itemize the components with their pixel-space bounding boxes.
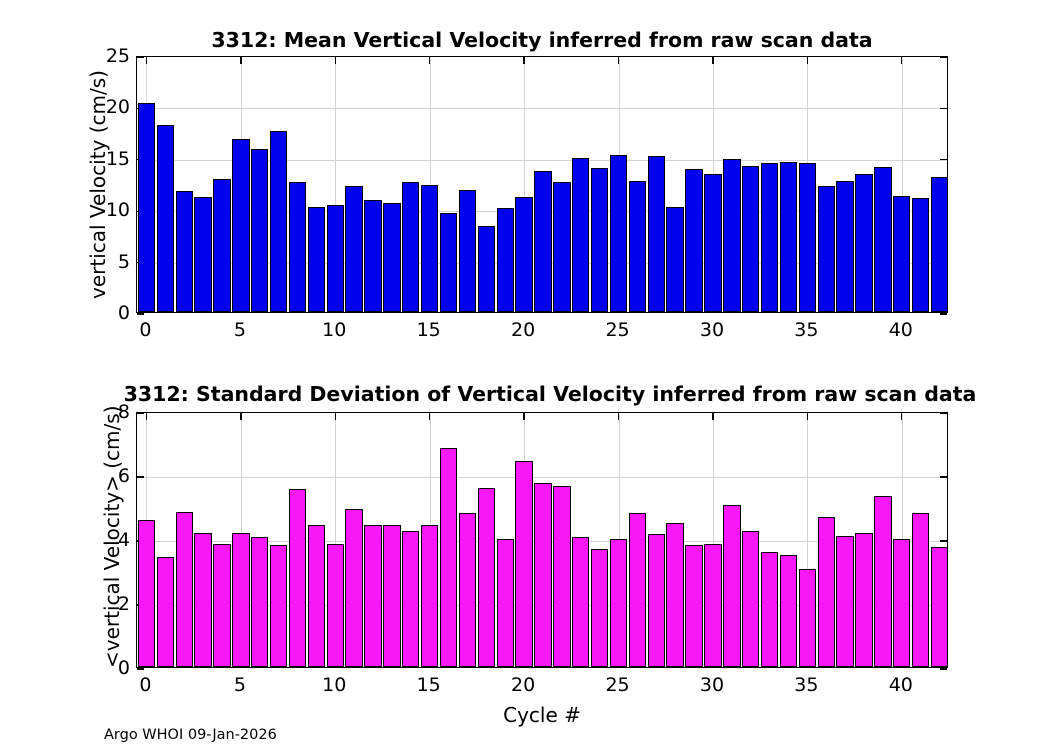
y-tick-label: 8 bbox=[84, 401, 130, 423]
bar bbox=[572, 158, 589, 312]
bar bbox=[364, 525, 381, 667]
bar bbox=[383, 203, 400, 312]
x-tick-label: 20 bbox=[498, 319, 548, 341]
x-tick-label: 30 bbox=[687, 674, 737, 696]
x-tick-label: 5 bbox=[215, 674, 265, 696]
bar bbox=[912, 513, 929, 667]
bar bbox=[780, 555, 797, 667]
x-axis-tick-top bbox=[429, 413, 430, 420]
y-axis-tick-right bbox=[940, 412, 947, 413]
y-tick-label: 20 bbox=[84, 96, 130, 118]
y-tick-label: 10 bbox=[84, 199, 130, 221]
y-axis-tick-right bbox=[940, 159, 947, 160]
bar bbox=[648, 156, 665, 312]
bar bbox=[213, 179, 230, 312]
bar bbox=[685, 545, 702, 667]
x-tick-label: 0 bbox=[120, 319, 170, 341]
x-axis-tick-top bbox=[146, 413, 147, 420]
bar bbox=[421, 525, 438, 667]
x-axis-tick-top bbox=[901, 57, 902, 64]
x-tick-label: 15 bbox=[404, 319, 454, 341]
y-axis-tick-right bbox=[940, 476, 947, 477]
bar bbox=[799, 569, 816, 667]
y-tick-label: 5 bbox=[84, 251, 130, 273]
bar bbox=[836, 181, 853, 312]
y-axis-tick bbox=[137, 412, 144, 413]
plot-area-std bbox=[136, 412, 948, 668]
x-tick-label: 5 bbox=[215, 319, 265, 341]
y-axis-label-mean: vertical Velocity (cm/s) bbox=[86, 56, 110, 313]
bar bbox=[308, 525, 325, 667]
x-axis-tick-top bbox=[523, 57, 524, 64]
x-tick-label: 15 bbox=[404, 674, 454, 696]
bar bbox=[327, 205, 344, 312]
bar bbox=[666, 523, 683, 667]
bar bbox=[497, 539, 514, 667]
x-tick-label: 0 bbox=[120, 674, 170, 696]
bar bbox=[742, 166, 759, 312]
bar bbox=[704, 174, 721, 312]
bar bbox=[874, 167, 891, 312]
x-axis-tick-top bbox=[712, 413, 713, 420]
bar bbox=[855, 533, 872, 667]
bar bbox=[534, 483, 551, 667]
x-axis-tick-top bbox=[901, 413, 902, 420]
bar bbox=[497, 208, 514, 312]
x-axis-tick-top bbox=[146, 57, 147, 64]
chart-title-std: 3312: Standard Deviation of Vertical Vel… bbox=[60, 382, 1040, 406]
bar bbox=[893, 539, 910, 667]
bar bbox=[685, 169, 702, 312]
bar bbox=[308, 207, 325, 312]
y-tick-label: 15 bbox=[84, 148, 130, 170]
x-axis-tick-top bbox=[618, 413, 619, 420]
x-tick-label: 10 bbox=[309, 319, 359, 341]
bar bbox=[478, 488, 495, 667]
x-axis-label: Cycle # bbox=[136, 703, 948, 727]
bar bbox=[515, 461, 532, 667]
bar bbox=[232, 533, 249, 667]
x-axis-tick-top bbox=[335, 413, 336, 420]
x-axis-tick-top bbox=[429, 57, 430, 64]
bar bbox=[157, 557, 174, 667]
bar bbox=[251, 149, 268, 312]
bar bbox=[176, 512, 193, 667]
bar bbox=[402, 531, 419, 667]
bar bbox=[780, 162, 797, 312]
y-tick-label: 2 bbox=[84, 593, 130, 615]
bar bbox=[289, 182, 306, 312]
bar bbox=[761, 163, 778, 312]
bar bbox=[402, 182, 419, 312]
y-axis-tick bbox=[137, 313, 144, 314]
bar bbox=[742, 531, 759, 667]
x-tick-label: 40 bbox=[876, 674, 926, 696]
bar bbox=[251, 537, 268, 667]
bar bbox=[157, 125, 174, 312]
bar bbox=[610, 539, 627, 667]
bar bbox=[629, 513, 646, 667]
bar bbox=[194, 533, 211, 667]
x-axis-tick-top bbox=[523, 413, 524, 420]
bar bbox=[213, 544, 230, 667]
y-tick-label: 4 bbox=[84, 529, 130, 551]
bar bbox=[270, 545, 287, 667]
x-axis-tick-top bbox=[712, 57, 713, 64]
bar bbox=[270, 131, 287, 312]
bar bbox=[478, 226, 495, 312]
x-axis-tick-top bbox=[618, 57, 619, 64]
x-tick-label: 35 bbox=[781, 674, 831, 696]
x-axis-tick-top bbox=[807, 413, 808, 420]
bar bbox=[761, 552, 778, 667]
bar bbox=[289, 489, 306, 667]
y-tick-label: 25 bbox=[84, 45, 130, 67]
bar bbox=[874, 496, 891, 667]
x-axis-tick-top bbox=[807, 57, 808, 64]
y-axis-tick-right bbox=[940, 540, 947, 541]
bar bbox=[893, 196, 910, 312]
bar bbox=[855, 174, 872, 312]
bar bbox=[553, 182, 570, 312]
bar bbox=[799, 163, 816, 312]
bar bbox=[666, 207, 683, 312]
x-tick-label: 40 bbox=[876, 319, 926, 341]
bar bbox=[138, 520, 155, 667]
x-tick-label: 25 bbox=[593, 674, 643, 696]
y-axis-tick-right bbox=[940, 56, 947, 57]
bar bbox=[931, 547, 948, 667]
x-tick-label: 25 bbox=[593, 319, 643, 341]
plot-inner-mean bbox=[137, 57, 947, 312]
bar bbox=[327, 544, 344, 667]
bar bbox=[515, 197, 532, 312]
bar bbox=[534, 171, 551, 312]
y-axis-tick-right bbox=[940, 313, 947, 314]
bar bbox=[912, 198, 929, 312]
x-tick-label: 35 bbox=[781, 319, 831, 341]
plot-inner-std bbox=[137, 413, 947, 667]
x-tick-label: 10 bbox=[309, 674, 359, 696]
bar bbox=[459, 513, 476, 667]
bar bbox=[591, 168, 608, 312]
bar bbox=[194, 197, 211, 312]
plot-area-mean bbox=[136, 56, 948, 313]
bar bbox=[610, 155, 627, 312]
bar bbox=[138, 103, 155, 312]
bar bbox=[345, 509, 362, 667]
bar bbox=[553, 486, 570, 667]
bar bbox=[723, 159, 740, 312]
bar bbox=[704, 544, 721, 667]
gridline-horizontal bbox=[137, 477, 947, 478]
figure-canvas: 3312: Mean Vertical Velocity inferred fr… bbox=[0, 0, 1050, 750]
bar bbox=[440, 448, 457, 667]
x-axis-tick-top bbox=[335, 57, 336, 64]
bar bbox=[629, 181, 646, 312]
gridline-horizontal bbox=[137, 108, 947, 109]
y-axis-tick-right bbox=[940, 668, 947, 669]
bar bbox=[648, 534, 665, 667]
bar bbox=[818, 186, 835, 312]
y-axis-tick bbox=[137, 668, 144, 669]
bar bbox=[232, 139, 249, 312]
bar bbox=[572, 537, 589, 667]
bar bbox=[421, 185, 438, 312]
bar bbox=[459, 190, 476, 312]
bar bbox=[364, 200, 381, 312]
bar bbox=[591, 549, 608, 667]
x-axis-tick-top bbox=[240, 413, 241, 420]
x-tick-label: 20 bbox=[498, 674, 548, 696]
x-axis-tick-top bbox=[240, 57, 241, 64]
bar bbox=[345, 186, 362, 312]
bar bbox=[383, 525, 400, 667]
chart-title-mean: 3312: Mean Vertical Velocity inferred fr… bbox=[136, 28, 948, 52]
bar bbox=[176, 191, 193, 312]
bar bbox=[440, 213, 457, 312]
bar bbox=[836, 536, 853, 667]
y-axis-tick-right bbox=[940, 108, 947, 109]
bar bbox=[723, 505, 740, 667]
y-axis-tick bbox=[137, 56, 144, 57]
footer-credit: Argo WHOI 09-Jan-2026 bbox=[104, 727, 277, 743]
y-tick-label: 6 bbox=[84, 465, 130, 487]
x-tick-label: 30 bbox=[687, 319, 737, 341]
bar bbox=[931, 177, 948, 312]
bar bbox=[818, 517, 835, 667]
y-axis-tick bbox=[137, 476, 144, 477]
